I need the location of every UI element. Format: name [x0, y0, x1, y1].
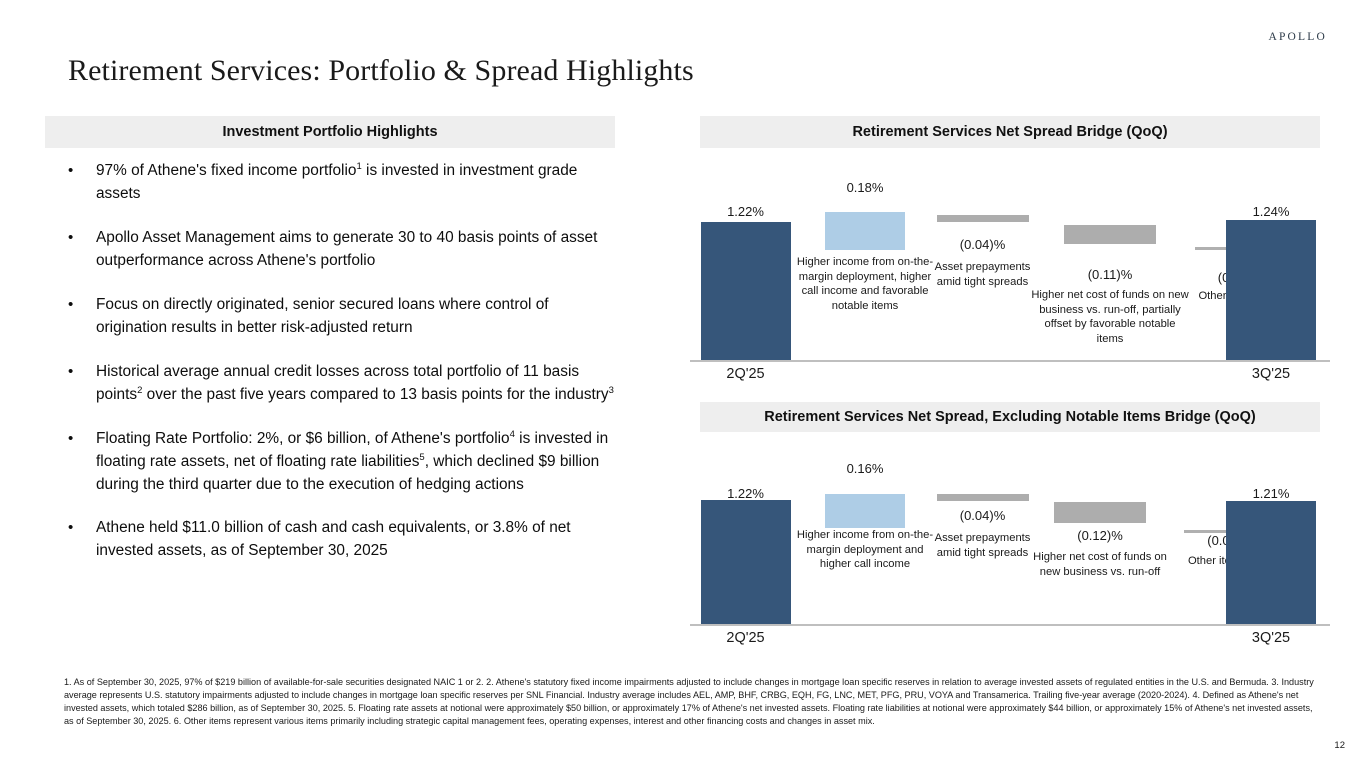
bullet-text: 97% of Athene's fixed income portfolio1 … [96, 162, 577, 202]
bullet-item: •Floating Rate Portfolio: 2%, or $6 bill… [64, 428, 620, 497]
bullet-dot-icon: • [68, 361, 73, 383]
page-number: 12 [1334, 740, 1345, 751]
chart-column: (0.11)%Higher net cost of funds on new b… [1035, 152, 1185, 394]
chart-column: 1.21%3Q'25 [1220, 436, 1322, 658]
chart-column: 1.24%3Q'25 [1220, 152, 1322, 394]
band-label-chart1: Retirement Services Net Spread Bridge (Q… [852, 124, 1167, 140]
chart-bar-value: 1.22% [727, 486, 764, 501]
chart-bar-value: 1.22% [727, 204, 764, 219]
chart-axis-label: 3Q'25 [1252, 630, 1290, 646]
chart-column: (0.04)%Asset prepayments amid tight spre… [935, 436, 1030, 658]
chart-bar-anchor [701, 500, 791, 624]
bullet-dot-icon: • [68, 294, 73, 316]
chart-column: 1.22%2Q'25 [698, 152, 793, 394]
chart-bar-description: Asset prepayments amid tight spreads [930, 260, 1035, 289]
chart-bar-description: Higher income from on-the-margin deploym… [795, 255, 935, 313]
chart-bar-negative [1064, 225, 1156, 244]
investment-portfolio-highlights-header: Investment Portfolio Highlights [45, 116, 615, 148]
chart-bar-value: 1.21% [1253, 486, 1290, 501]
chart-bar-description: Higher net cost of funds on new business… [1030, 550, 1170, 579]
chart-column: (0.12)%Higher net cost of funds on new b… [1035, 436, 1165, 658]
bullet-text: Athene held $11.0 billion of cash and ca… [96, 519, 571, 559]
chart-column: (0.04)%Asset prepayments amid tight spre… [935, 152, 1030, 394]
bullet-dot-icon: • [68, 428, 73, 450]
chart-bar-positive [825, 494, 905, 528]
chart-axis-label: 2Q'25 [726, 630, 764, 646]
chart-bar-description: Higher income from on-the-margin deploym… [795, 528, 935, 572]
chart-bar-positive [825, 212, 905, 250]
bullet-item: •Athene held $11.0 billion of cash and c… [64, 517, 620, 563]
chart-bar-negative [1054, 502, 1146, 523]
chart-bar-value: 1.24% [1253, 204, 1290, 219]
chart-column: 0.16%Higher income from on-the-margin de… [800, 436, 930, 658]
page-title: Retirement Services: Portfolio & Spread … [68, 54, 694, 88]
net-spread-excl-notable-bridge-header: Retirement Services Net Spread, Excludin… [700, 402, 1320, 432]
chart-column: 1.22%2Q'25 [698, 436, 793, 658]
chart-bar-anchor [1226, 501, 1316, 624]
chart-bar-value: (0.12)% [1077, 528, 1123, 543]
bullet-dot-icon: • [68, 517, 73, 539]
net-spread-excl-notable-bridge-chart: 1.22%2Q'250.16%Higher income from on-the… [690, 436, 1330, 658]
net-spread-bridge-header: Retirement Services Net Spread Bridge (Q… [700, 116, 1320, 148]
chart-bar-value: 0.18% [847, 180, 884, 195]
chart-bar-value: (0.04)% [960, 237, 1006, 252]
bullet-item: •Historical average annual credit losses… [64, 361, 620, 407]
chart-bar-anchor [701, 222, 791, 360]
apollo-logo: APOLLO [1268, 31, 1327, 43]
bullet-item: •97% of Athene's fixed income portfolio1… [64, 160, 620, 206]
chart-bar-anchor [1226, 220, 1316, 360]
footnotes: 1. As of September 30, 2025, 97% of $219… [64, 676, 1319, 728]
net-spread-bridge-chart: 1.22%2Q'250.18%Higher income from on-the… [690, 152, 1330, 394]
bullet-dot-icon: • [68, 227, 73, 249]
chart-axis-label: 3Q'25 [1252, 366, 1290, 382]
bullet-text: Focus on directly originated, senior sec… [96, 296, 549, 336]
bullet-text: Apollo Asset Management aims to generate… [96, 229, 597, 269]
chart-bar-description: Asset prepayments amid tight spreads [930, 531, 1035, 560]
bullet-text: Historical average annual credit losses … [96, 363, 614, 403]
chart-bar-negative [937, 494, 1029, 501]
chart-bar-value: (0.11)% [1088, 267, 1133, 282]
bullet-item: •Apollo Asset Management aims to generat… [64, 227, 620, 273]
investment-portfolio-bullet-list: •97% of Athene's fixed income portfolio1… [64, 160, 620, 584]
chart-bar-description: Higher net cost of funds on new business… [1030, 288, 1190, 346]
bullet-text: Floating Rate Portfolio: 2%, or $6 billi… [96, 430, 608, 493]
bullet-dot-icon: • [68, 160, 73, 182]
chart-bar-value: 0.16% [847, 461, 884, 476]
chart-axis-label: 2Q'25 [726, 366, 764, 382]
band-label-chart2: Retirement Services Net Spread, Excludin… [764, 409, 1256, 425]
band-label-left: Investment Portfolio Highlights [222, 124, 437, 140]
bullet-item: •Focus on directly originated, senior se… [64, 294, 620, 340]
chart-bar-value: (0.04)% [960, 508, 1006, 523]
chart-column: 0.18%Higher income from on-the-margin de… [800, 152, 930, 394]
chart-bar-negative [937, 215, 1029, 222]
